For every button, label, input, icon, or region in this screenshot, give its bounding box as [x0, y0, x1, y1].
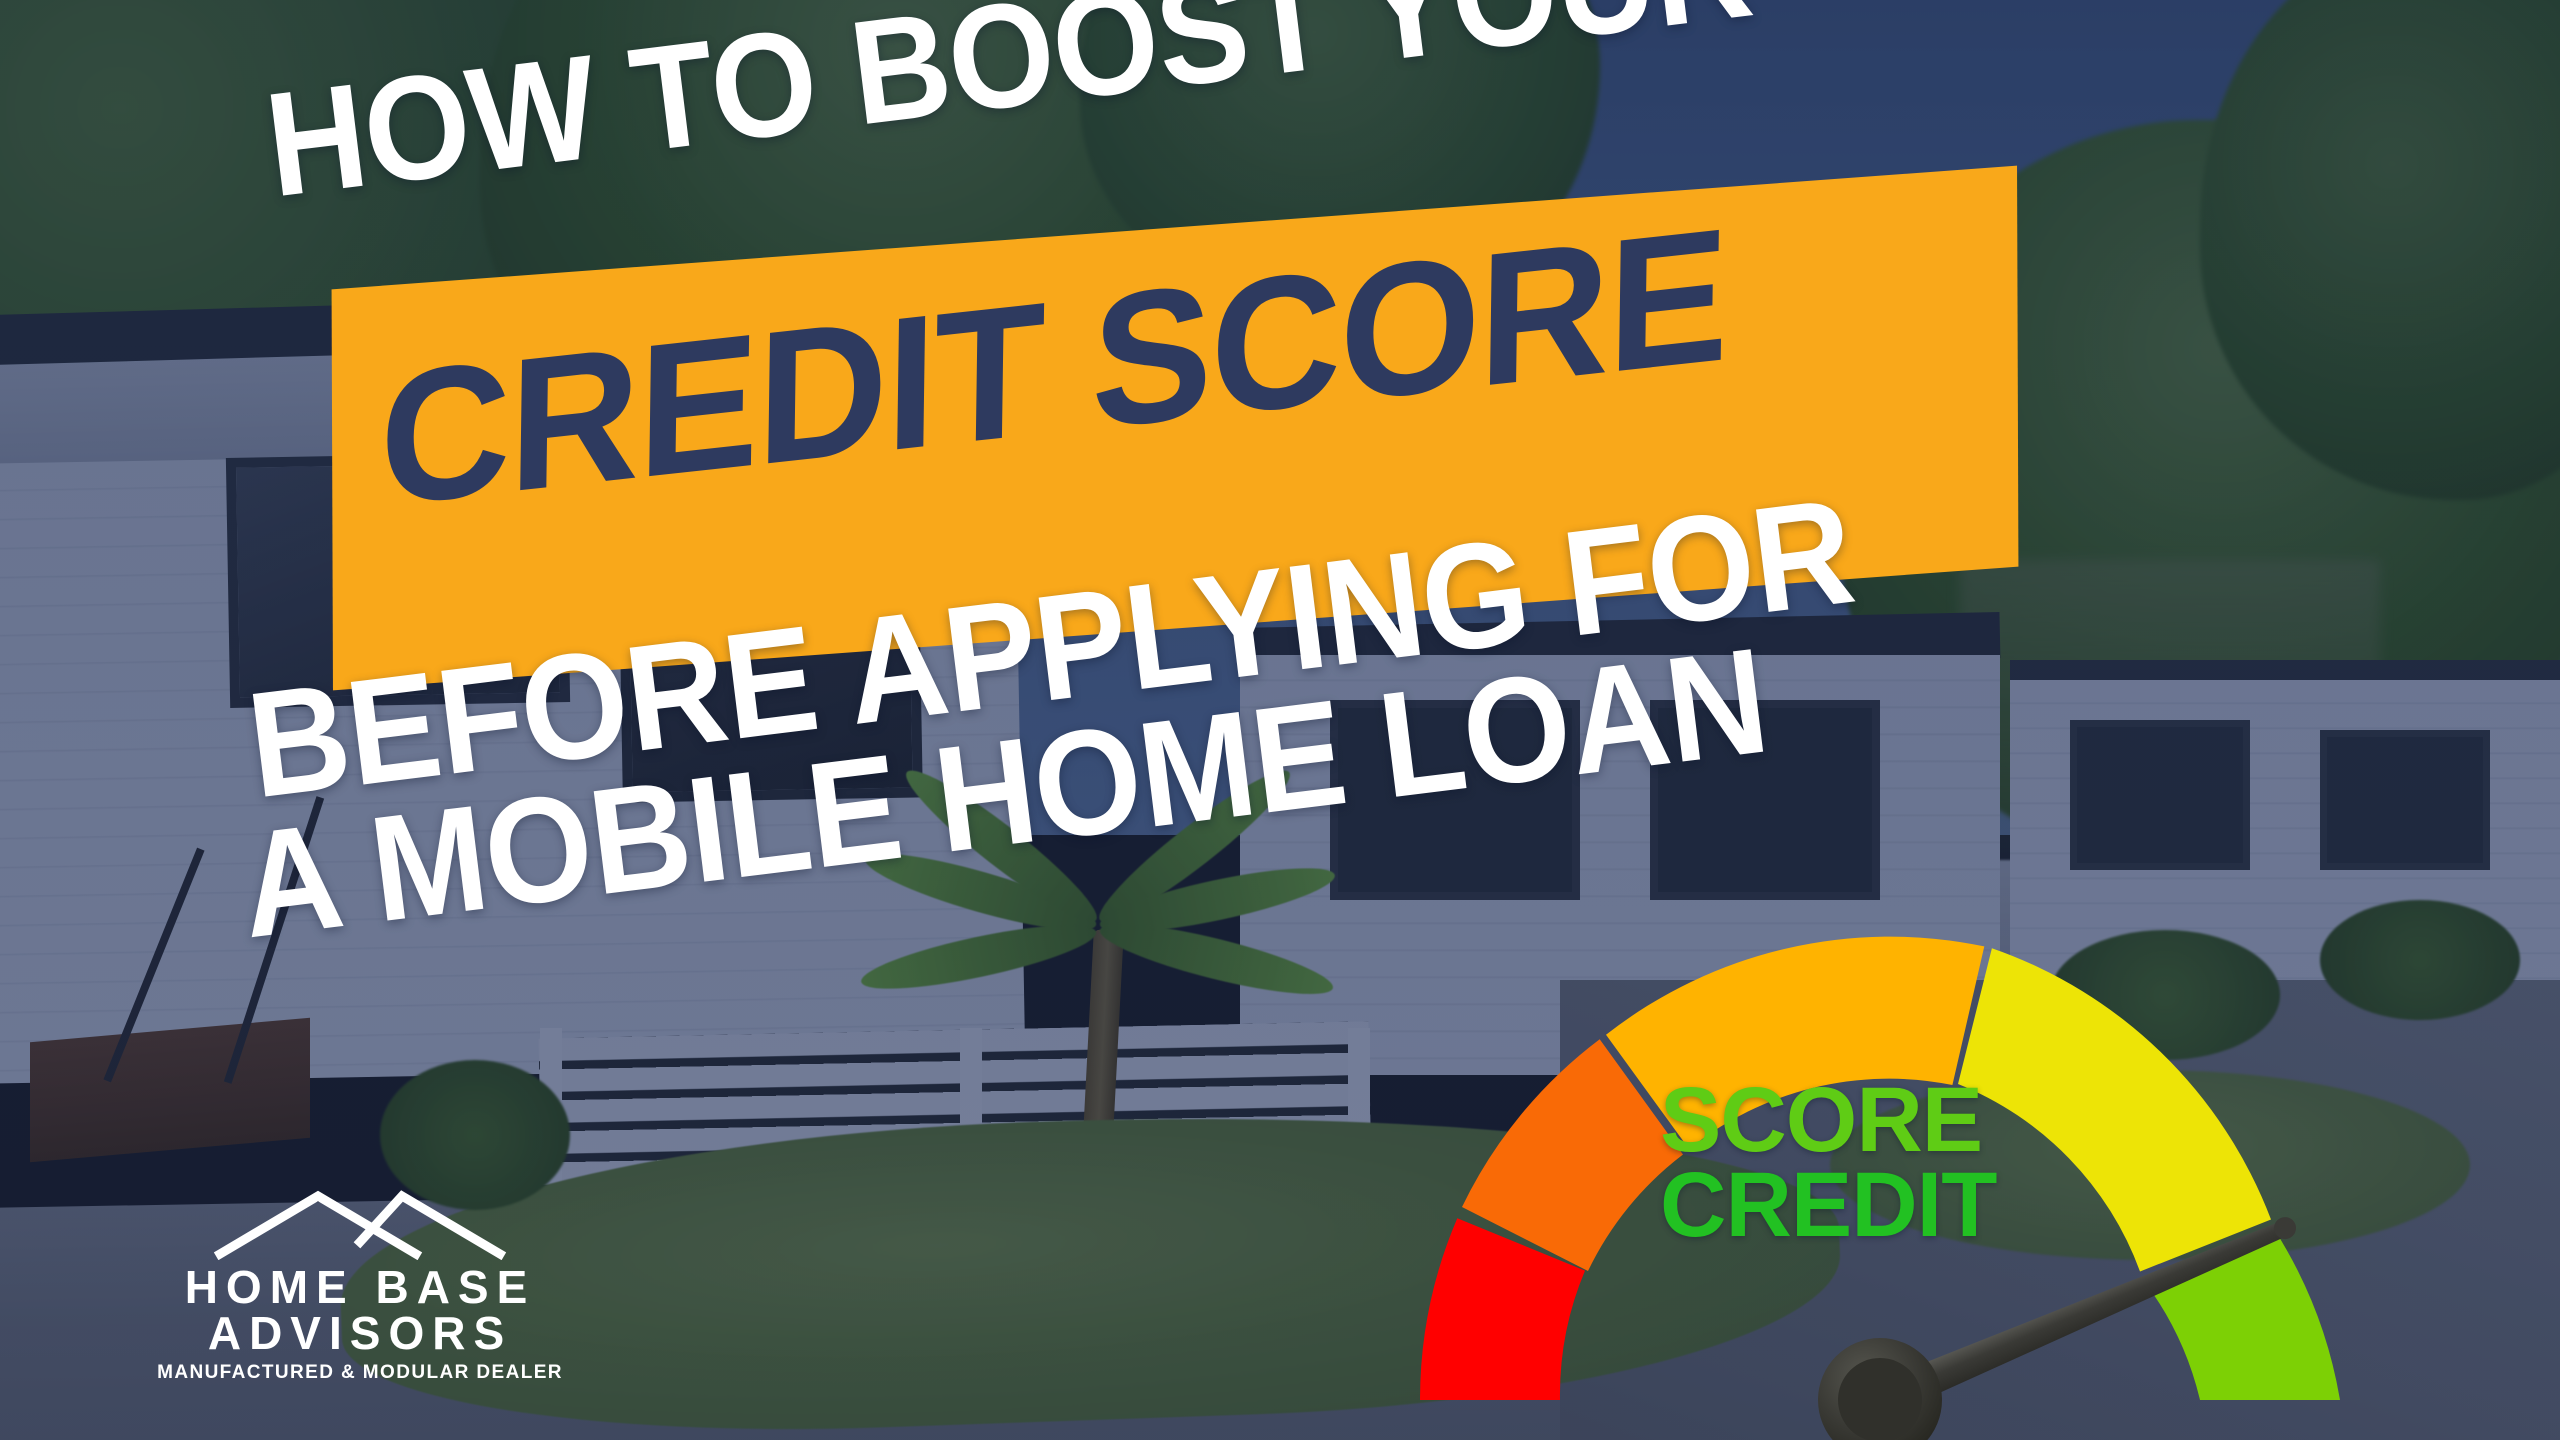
promo-graphic: HOW TO BOOST YOUR CREDIT SCORE BEFORE AP…	[0, 0, 2560, 1440]
gauge-label-group: SCORE CREDIT	[1660, 1078, 2080, 1247]
gauge-label-credit: CREDIT	[1660, 1163, 2080, 1248]
gauge-needle-hub-inner	[1838, 1358, 1922, 1440]
logo-tagline: MANUFACTURED & MODULAR DEALER	[150, 1362, 570, 1384]
logo-line-1: HOME BASE	[150, 1264, 570, 1310]
double-roof-peak-icon	[210, 1190, 510, 1260]
logo-line-2: ADVISORS	[150, 1310, 570, 1356]
brand-logo: HOME BASE ADVISORS MANUFACTURED & MODULA…	[150, 1190, 570, 1384]
gauge-label-score: SCORE	[1660, 1078, 2080, 1163]
